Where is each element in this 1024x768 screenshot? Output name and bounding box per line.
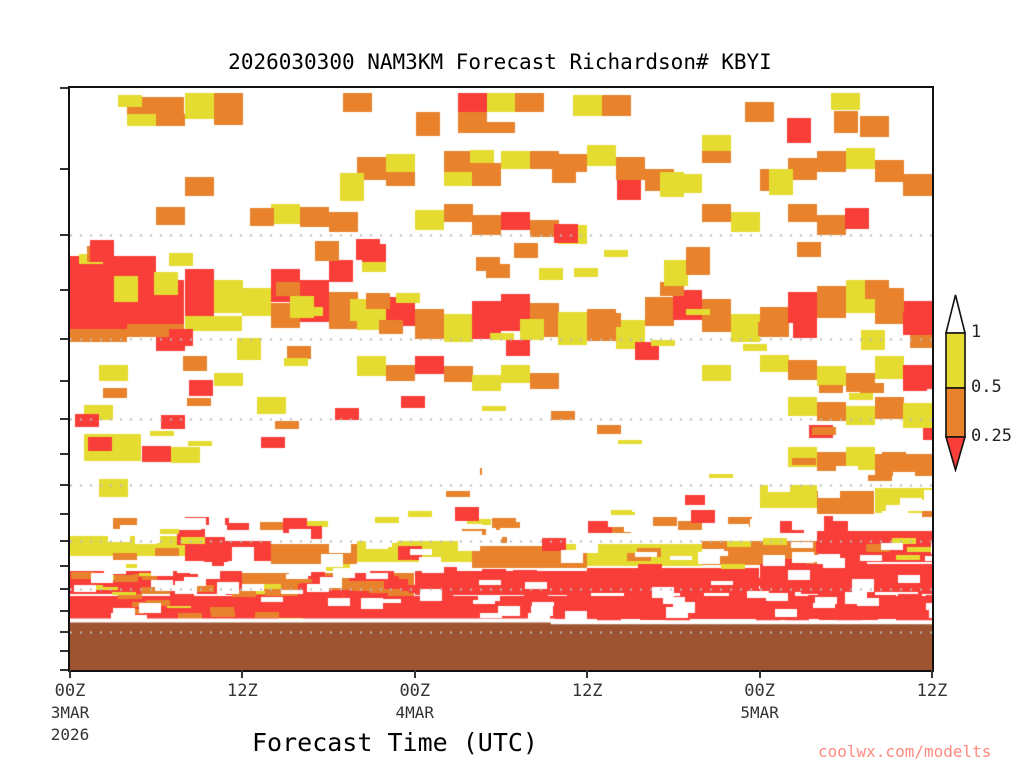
y-tick-mark [60, 234, 68, 236]
y-tick-mark [60, 540, 68, 542]
x-tick-mark [414, 670, 416, 678]
colorbar-tick-label: 1 [971, 322, 981, 342]
y-tick-mark [60, 610, 68, 612]
chart-title-text: 2026030300 NAM3KM Forecast Richardson# K… [228, 50, 772, 74]
y-tick-mark [60, 168, 68, 170]
x-tick-label: 00Z [700, 681, 820, 701]
y-tick-mark [60, 87, 68, 89]
y-tick-mark [60, 650, 68, 652]
x-tick-mark [931, 670, 933, 678]
y-tick-mark [60, 513, 68, 515]
colorbar-band-orange [946, 388, 965, 437]
y-tick-mark [60, 588, 68, 590]
colorbar-band-above-1 [946, 295, 965, 333]
x-tick-label: 12Z [182, 681, 302, 701]
chart-canvas-root: 2026030300 NAM3KM Forecast Richardson# K… [0, 0, 1024, 768]
x-tick-mark [241, 670, 243, 678]
y-tick-mark [60, 380, 68, 382]
x-tick-label: 12Z [527, 681, 647, 701]
gridlines-overlay [70, 88, 932, 670]
colorbar-tick-label: 0.25 [971, 426, 1012, 446]
x-tick-mark [586, 670, 588, 678]
x-tick-mark [69, 670, 71, 678]
y-tick-mark [60, 338, 68, 340]
x-tick-label: 12Z [872, 681, 992, 701]
y-tick-mark [60, 453, 68, 455]
page-title: 2026030300 NAM3KM Forecast Richardson# K… [0, 50, 1024, 74]
y-tick-mark [60, 631, 68, 633]
y-tick-mark [60, 418, 68, 420]
y-tick-mark [60, 289, 68, 291]
x-tick-label: 00Z [355, 681, 475, 701]
x-tick-mark [759, 670, 761, 678]
y-tick-mark [60, 565, 68, 567]
y-tick-mark [60, 669, 68, 671]
y-tick-mark [60, 484, 68, 486]
x-axis-title: Forecast Time (UTC) [0, 728, 790, 757]
colorbar-band-yellow [946, 333, 965, 388]
plot-area [68, 86, 934, 672]
colorbar-band-red [946, 437, 965, 470]
x-tick-date-label: 4MAR [355, 703, 475, 722]
x-tick-label: 00Z [10, 681, 130, 701]
x-tick-date-label: 3MAR [10, 703, 130, 722]
watermark-link[interactable]: coolwx.com/modelts [818, 742, 991, 761]
x-tick-date-label: 5MAR [700, 703, 820, 722]
colorbar-tick-label: 0.5 [971, 377, 1002, 397]
colorbar-legend: 10.50.25 [944, 292, 1020, 472]
